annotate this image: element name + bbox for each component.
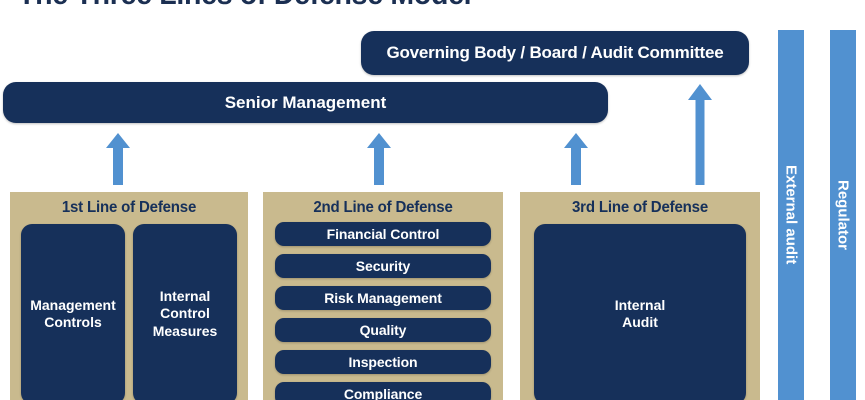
regulator-label: Regulator: [835, 180, 852, 250]
arrow-first-line-to-senior-management-icon: [105, 133, 131, 185]
pill-inspection[interactable]: Inspection: [275, 350, 491, 374]
second-line-panel: 2nd Line of Defense Financial Control Se…: [263, 192, 503, 400]
external-audit-bar[interactable]: External audit: [778, 30, 804, 400]
first-line-panel: 1st Line of Defense ManagementControls I…: [10, 192, 248, 400]
pill-risk-management[interactable]: Risk Management: [275, 286, 491, 310]
external-audit-label: External audit: [783, 165, 800, 264]
third-line-title: 3rd Line of Defense: [527, 199, 753, 217]
governing-body-bar[interactable]: Governing Body / Board / Audit Committee: [361, 31, 749, 75]
pill-security[interactable]: Security: [275, 254, 491, 278]
box-internal-control-measures[interactable]: InternalControlMeasures: [133, 224, 237, 400]
second-line-title: 2nd Line of Defense: [270, 199, 496, 217]
diagram-canvas: The Three Lines of Defense Model Governi…: [0, 0, 865, 400]
arrow-second-line-to-senior-management-icon: [366, 133, 392, 185]
box-management-controls[interactable]: ManagementControls: [21, 224, 125, 400]
arrow-third-line-to-governing-body-icon: [687, 84, 713, 185]
third-line-panel: 3rd Line of Defense InternalAudit: [520, 192, 760, 400]
arrow-third-line-to-senior-management-icon: [563, 133, 589, 185]
box-internal-audit[interactable]: InternalAudit: [534, 224, 746, 400]
regulator-bar[interactable]: Regulator: [830, 30, 856, 400]
first-line-title: 1st Line of Defense: [17, 199, 241, 217]
pill-compliance[interactable]: Compliance: [275, 382, 491, 400]
page-title: The Three Lines of Defense Model: [18, 0, 471, 12]
pill-quality[interactable]: Quality: [275, 318, 491, 342]
pill-financial-control[interactable]: Financial Control: [275, 222, 491, 246]
senior-management-bar[interactable]: Senior Management: [3, 82, 608, 123]
